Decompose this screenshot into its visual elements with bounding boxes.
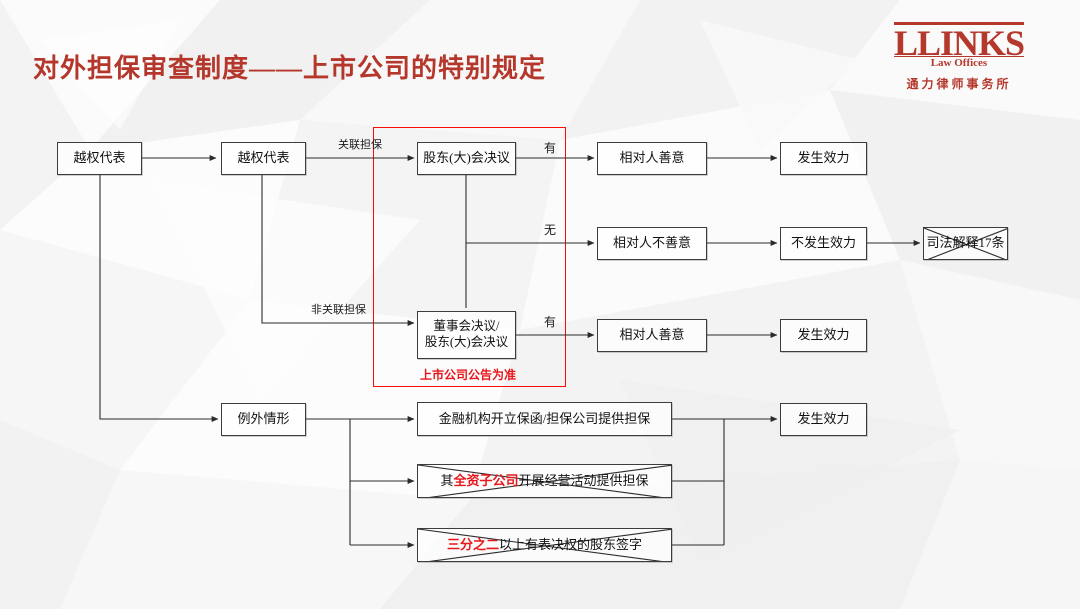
node-label-line2: 股东(大)会决议 [425, 335, 508, 351]
edge-label-yes-2: 有 [544, 313, 556, 330]
node-label: 发生效力 [797, 150, 849, 166]
logo-wordmark: LLINKS [894, 22, 1024, 60]
node-label: 越权代表 [237, 150, 289, 166]
node-counterparty-bad-faith[interactable]: 相对人不善意 [597, 227, 707, 260]
node-label: 相对人善意 [619, 150, 684, 166]
node-label: 发生效力 [797, 411, 849, 427]
edge-label-no: 无 [544, 221, 556, 238]
node-n2[interactable]: 越权代表 [221, 142, 306, 175]
node-label: 相对人善意 [619, 327, 684, 343]
node-shareholder-resolution[interactable]: 股东(大)会决议 [417, 142, 516, 175]
node-label-suffix: 开展经营活动提供担保 [519, 473, 649, 488]
node-effective-1[interactable]: 发生效力 [780, 142, 867, 175]
node-label: 越权代表 [73, 150, 125, 166]
node-board-or-shareholder-resolution[interactable]: 董事会决议/ 股东(大)会决议 [417, 311, 516, 359]
node-label-prefix: 其 [440, 473, 453, 488]
node-not-effective[interactable]: 不发生效力 [780, 227, 867, 260]
node-label: 金融机构开立保函/担保公司提供担保 [439, 411, 651, 427]
node-label: 司法解释17条 [926, 235, 1004, 251]
node-label-highlight: 三分之二 [447, 537, 499, 552]
llinks-logo: LLINKS Law Offices 通力律师事务所 [894, 22, 1024, 92]
page-title: 对外担保审查制度——上市公司的特别规定 [33, 48, 546, 85]
node-counterparty-good-faith-1[interactable]: 相对人善意 [597, 142, 707, 175]
node-exception-wholly-owned-subsidiary[interactable]: 其全资子公司开展经营活动提供担保 [417, 464, 672, 498]
node-label: 不发生效力 [791, 235, 856, 251]
node-label-suffix: 以上有表决权的股东签字 [499, 537, 642, 552]
edge-label-yes-1: 有 [544, 139, 556, 156]
edge-label-non-related-guarantee: 非关联担保 [311, 301, 366, 317]
node-label: 股东(大)会决议 [423, 150, 510, 166]
node-label: 发生效力 [797, 327, 849, 343]
node-label: 例外情形 [237, 411, 289, 427]
node-exception-cases[interactable]: 例外情形 [221, 403, 306, 436]
node-judicial-interpretation-art17[interactable]: 司法解释17条 [923, 227, 1008, 260]
edge-label-related-guarantee: 关联担保 [338, 136, 382, 152]
node-label: 相对人不善意 [613, 235, 691, 251]
node-counterparty-good-faith-2[interactable]: 相对人善意 [597, 319, 707, 352]
logo-chinese-name: 通力律师事务所 [894, 75, 1024, 92]
slide-canvas: 对外担保审查制度——上市公司的特别规定 LLINKS Law Offices 通… [0, 0, 1080, 609]
node-label-line1: 董事会决议/ [434, 319, 500, 335]
node-label-highlight: 全资子公司 [453, 473, 518, 488]
node-n1[interactable]: 越权代表 [57, 142, 142, 175]
highlight-frame-note: 上市公司公告为准 [420, 366, 516, 383]
node-exception-financial-guarantee[interactable]: 金融机构开立保函/担保公司提供担保 [417, 402, 672, 436]
node-effective-3[interactable]: 发生效力 [780, 403, 867, 436]
node-exception-two-thirds-signature[interactable]: 三分之二以上有表决权的股东签字 [417, 528, 672, 562]
node-effective-2[interactable]: 发生效力 [780, 319, 867, 352]
